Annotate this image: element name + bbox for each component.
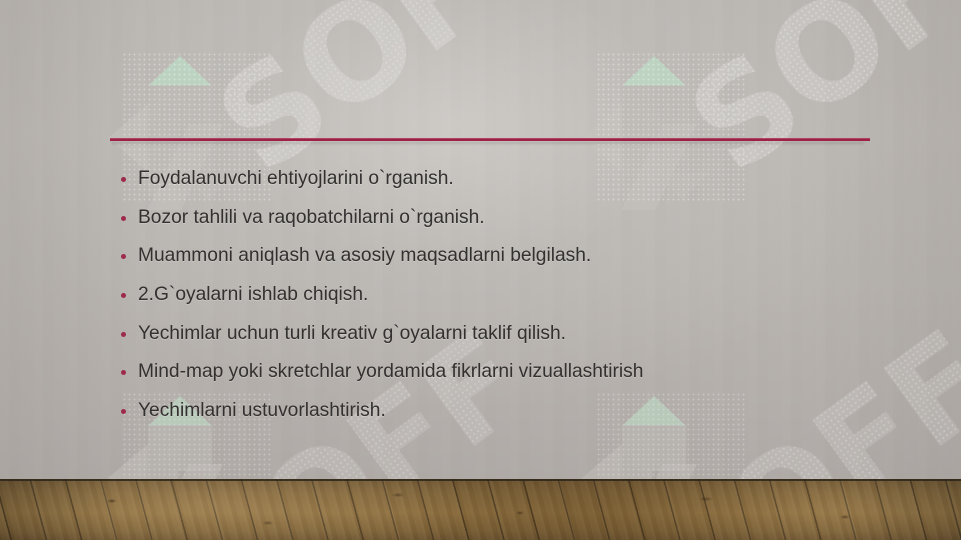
list-item[interactable]: Bozor tahlili va raqobatchilarni o`rgani…: [110, 199, 910, 238]
bullet-dot-icon: [121, 409, 126, 414]
list-item-text: 2.G`oyalarni ishlab chiqish.: [138, 284, 368, 306]
list-item[interactable]: 2.G`oyalarni ishlab chiqish.: [110, 276, 910, 315]
bullet-dot-icon: [121, 370, 126, 375]
list-item[interactable]: Yechimlarni ustuvorlashtirish.: [110, 392, 910, 431]
list-item-text: Foydalanuvchi ehtiyojlarini o`rganish.: [138, 168, 454, 190]
bullet-list: Foydalanuvchi ehtiyojlarini o`rganish. B…: [110, 160, 910, 430]
wall-floor-seam: [0, 479, 961, 481]
floor-vignette: [0, 479, 961, 540]
list-item-text: Mind-map yoki skretchlar yordamida fikrl…: [138, 361, 643, 383]
title-divider-line: [110, 136, 870, 146]
presentation-slide: SOF SOF OFF OFF Foydalanuvchi ehtiyojlar…: [0, 0, 961, 540]
slide-background-floor: [0, 479, 961, 540]
list-item-text: Muammoni aniqlash va asosiy maqsadlarni …: [138, 245, 591, 267]
bullet-dot-icon: [121, 332, 126, 337]
list-item[interactable]: Foydalanuvchi ehtiyojlarini o`rganish.: [110, 160, 910, 199]
list-item[interactable]: Muammoni aniqlash va asosiy maqsadlarni …: [110, 237, 910, 276]
bullet-dot-icon: [121, 293, 126, 298]
list-item-text: Yechimlarni ustuvorlashtirish.: [138, 400, 386, 422]
divider-shadow: [112, 142, 864, 144]
divider-highlight: [110, 138, 870, 139]
list-item[interactable]: Mind-map yoki skretchlar yordamida fikrl…: [110, 353, 910, 392]
list-item-text: Bozor tahlili va raqobatchilarni o`rgani…: [138, 207, 485, 229]
bullet-dot-icon: [121, 216, 126, 221]
bullet-dot-icon: [121, 254, 126, 259]
list-item[interactable]: Yechimlar uchun turli kreativ g`oyalarni…: [110, 314, 910, 353]
bullet-dot-icon: [121, 177, 126, 182]
list-item-text: Yechimlar uchun turli kreativ g`oyalarni…: [138, 323, 566, 345]
